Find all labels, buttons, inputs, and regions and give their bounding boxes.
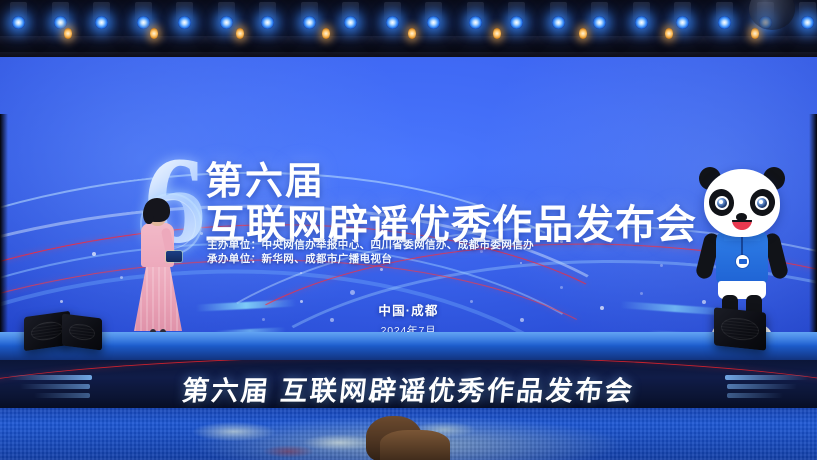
stage-front-banner: 第六届 互联网辟谣优秀作品发布会 (0, 360, 817, 410)
host-hair-side (143, 204, 154, 224)
blue-stage-lamp (95, 16, 108, 29)
warm-stage-lamp (150, 28, 158, 39)
stage-wing-right (809, 114, 817, 355)
blue-stage-lamp (552, 16, 565, 29)
blue-stage-lamp (220, 16, 233, 29)
warm-stage-lamp (236, 28, 244, 39)
panda-eye-left (715, 196, 729, 210)
blue-stage-lamp (510, 16, 523, 29)
warm-stage-lamp (322, 28, 330, 39)
conference-stage-photo: 6 第六届 互联网辟谣优秀作品发布会 主办单位：中央网信办举报中心、四川省委网信… (0, 0, 817, 460)
warm-stage-lamp (64, 28, 72, 39)
carpet-pattern (150, 414, 570, 458)
stage-wing-left (0, 114, 8, 355)
coorganizer-line: 承办单位：新华网、成都市广播电视台 (207, 253, 727, 267)
audience-member-shoulders (380, 430, 450, 460)
blue-stage-lamp (593, 16, 606, 29)
lighting-truss (0, 0, 817, 62)
blue-stage-lamp (635, 16, 648, 29)
blue-stage-lamp (801, 16, 814, 29)
page-title-line1: 第六届 (205, 161, 705, 203)
warm-stage-lamp (665, 28, 673, 39)
host-cue-cards (166, 251, 182, 262)
banner-title-text: 第六届 互联网辟谣优秀作品发布会 (0, 369, 817, 408)
panda-eye-right (755, 196, 769, 210)
blue-stage-lamp (344, 16, 357, 29)
warm-stage-lamp (579, 28, 587, 39)
blue-stage-lamp (469, 16, 482, 29)
blue-stage-lamp (718, 16, 731, 29)
organizer-line: 主办单位：中央网信办举报中心、四川省委网信办、成都市委网信办 (207, 239, 727, 253)
blue-stage-lamp (261, 16, 274, 29)
panda-shirt-badge-icon (736, 255, 749, 268)
blue-stage-lamp (303, 16, 316, 29)
stage-monitor-speaker-3 (714, 307, 766, 350)
warm-stage-lamp (751, 28, 759, 39)
blue-stage-lamp (676, 16, 689, 29)
blue-stage-lamp (178, 16, 191, 29)
led-backdrop-screen: 6 第六届 互联网辟谣优秀作品发布会 主办单位：中央网信办举报中心、四川省委网信… (0, 57, 817, 355)
blue-stage-lamp (54, 16, 67, 29)
host-skirt (134, 264, 182, 331)
organizer-block: 主办单位：中央网信办举报中心、四川省委网信办、成都市委网信办 承办单位：新华网、… (207, 239, 727, 267)
blue-stage-lamp (12, 16, 25, 29)
blue-stage-lamp (137, 16, 150, 29)
blue-stage-lamp (386, 16, 399, 29)
stage-monitor-speaker-2 (62, 314, 102, 351)
mirror-ball-icon (749, 0, 795, 30)
stage-floor-highlight (0, 332, 817, 346)
blue-stage-lamp (427, 16, 440, 29)
event-title-block: 第六届 互联网辟谣优秀作品发布会 (205, 161, 705, 247)
warm-stage-lamp (408, 28, 416, 39)
